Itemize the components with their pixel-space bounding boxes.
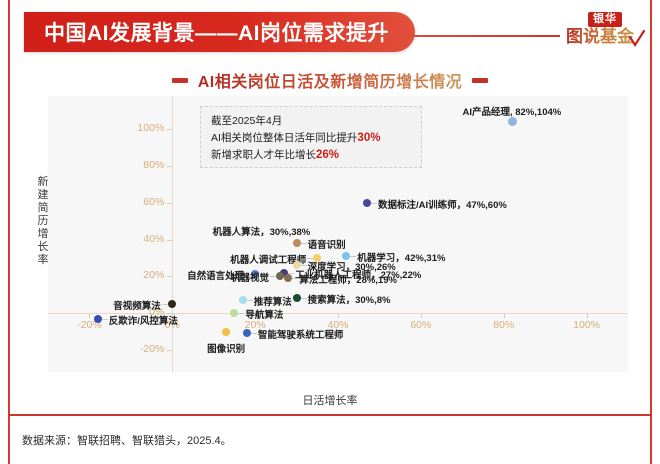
annotation-line-2: AI相关岗位整体日活年同比提升30% <box>211 130 411 147</box>
data-point[interactable] <box>94 315 102 323</box>
annotation-line-2-highlight: 30% <box>357 132 380 144</box>
y-tick <box>167 350 172 351</box>
brand-logo: 银华 图说基金 <box>566 10 644 56</box>
y-tick-label: 40% <box>114 233 164 245</box>
data-point[interactable] <box>239 296 247 304</box>
data-point[interactable] <box>284 274 292 282</box>
annotation-line-3-highlight: 26% <box>316 149 339 161</box>
page-title-banner: 中国AI发展背景——AI岗位需求提升 <box>24 12 415 52</box>
annotation-line-2-text: AI相关岗位整体日活年同比提升 <box>211 132 357 144</box>
x-tick <box>421 313 422 318</box>
page-title: 中国AI发展背景——AI岗位需求提升 <box>44 17 389 47</box>
label-leader-line <box>371 203 377 204</box>
data-point-label: 算法工程师，28%,19% <box>299 272 397 286</box>
y-tick-label: 20% <box>114 269 164 281</box>
y-tick-label: 100% <box>114 122 164 134</box>
y-tick-label: 80% <box>114 159 164 171</box>
data-point[interactable] <box>293 294 301 302</box>
data-point-label: 数据标注/AI训练师，47%,60% <box>378 197 507 211</box>
data-point-label: 搜索算法，30%,8% <box>308 292 391 306</box>
data-point[interactable] <box>276 272 284 280</box>
label-leader-line <box>247 300 253 301</box>
data-point[interactable] <box>222 328 230 336</box>
check-icon <box>629 30 645 48</box>
label-leader-line <box>102 319 108 320</box>
label-leader-line <box>350 256 356 257</box>
logo-badge-text: 银华 <box>588 12 622 27</box>
dash-left-icon <box>172 78 188 83</box>
label-leader-line <box>270 276 276 277</box>
annotation-line-3: 新增求职人才年比增长26% <box>211 147 411 164</box>
y-tick <box>167 240 172 241</box>
label-leader-line <box>301 243 307 244</box>
x-tick <box>89 313 90 318</box>
x-tick <box>587 313 588 318</box>
data-point-label: 导航算法 <box>245 307 283 321</box>
label-leader-line <box>238 313 244 314</box>
y-tick <box>167 166 172 167</box>
label-leader-line <box>251 333 257 334</box>
data-point-label: 音视频算法 <box>113 298 161 312</box>
y-tick-label: -20% <box>114 343 164 355</box>
label-leader-line <box>301 298 307 299</box>
x-tick-label: -20% <box>67 319 111 331</box>
annotation-box: 截至2025年4月 AI相关岗位整体日活年同比提升30% 新增求职人才年比增长2… <box>200 106 422 168</box>
title-rule <box>380 35 560 37</box>
y-axis-title: 新建简历增长率 <box>34 176 52 267</box>
data-point[interactable] <box>363 199 371 207</box>
data-point-label: 反欺诈/风控算法 <box>109 313 178 327</box>
data-point[interactable] <box>293 239 301 247</box>
label-leader-line <box>292 278 298 279</box>
y-tick <box>167 129 172 130</box>
data-point-label: 智能驾驶系统工程师 <box>258 327 344 341</box>
x-axis-title: 日活增长率 <box>0 392 660 408</box>
footer-divider <box>8 414 652 416</box>
x-tick-label: 60% <box>399 319 443 331</box>
annotation-line-3-text: 新增求职人才年比增长 <box>211 149 316 161</box>
page-header: 中国AI发展背景——AI岗位需求提升 银华 图说基金 <box>8 8 652 58</box>
chart-card: AI相关岗位日活及新增简历增长情况 -20%0%20%40%60%80%100%… <box>22 62 638 402</box>
data-point-label: 图像识别 <box>207 341 245 355</box>
data-point[interactable] <box>508 117 517 126</box>
data-point-label: 机器视觉 <box>231 270 269 284</box>
x-tick <box>504 313 505 318</box>
data-point-label: 语音识别 <box>308 237 346 251</box>
data-point[interactable] <box>230 309 238 317</box>
y-tick-label: 60% <box>114 196 164 208</box>
data-point-label: AI产品经理, 82%,104% <box>463 104 562 118</box>
annotation-line-1: 截至2025年4月 <box>211 113 411 130</box>
chart-title: AI相关岗位日活及新增简历增长情况 <box>198 68 463 92</box>
data-point-label: 机器人算法，30%,38% <box>213 224 311 238</box>
chart-title-row: AI相关岗位日活及新增简历增长情况 <box>22 68 638 92</box>
label-leader-line <box>162 304 168 305</box>
x-tick-label: 100% <box>565 319 609 331</box>
data-point[interactable] <box>243 329 251 337</box>
y-tick <box>167 276 172 277</box>
dash-right-icon <box>472 78 488 83</box>
data-source-note: 数据来源：智联招聘、智联猎头，2025.4。 <box>22 432 232 448</box>
y-tick <box>167 203 172 204</box>
data-point[interactable] <box>168 300 176 308</box>
x-tick-label: 80% <box>482 319 526 331</box>
x-tick <box>338 313 339 318</box>
